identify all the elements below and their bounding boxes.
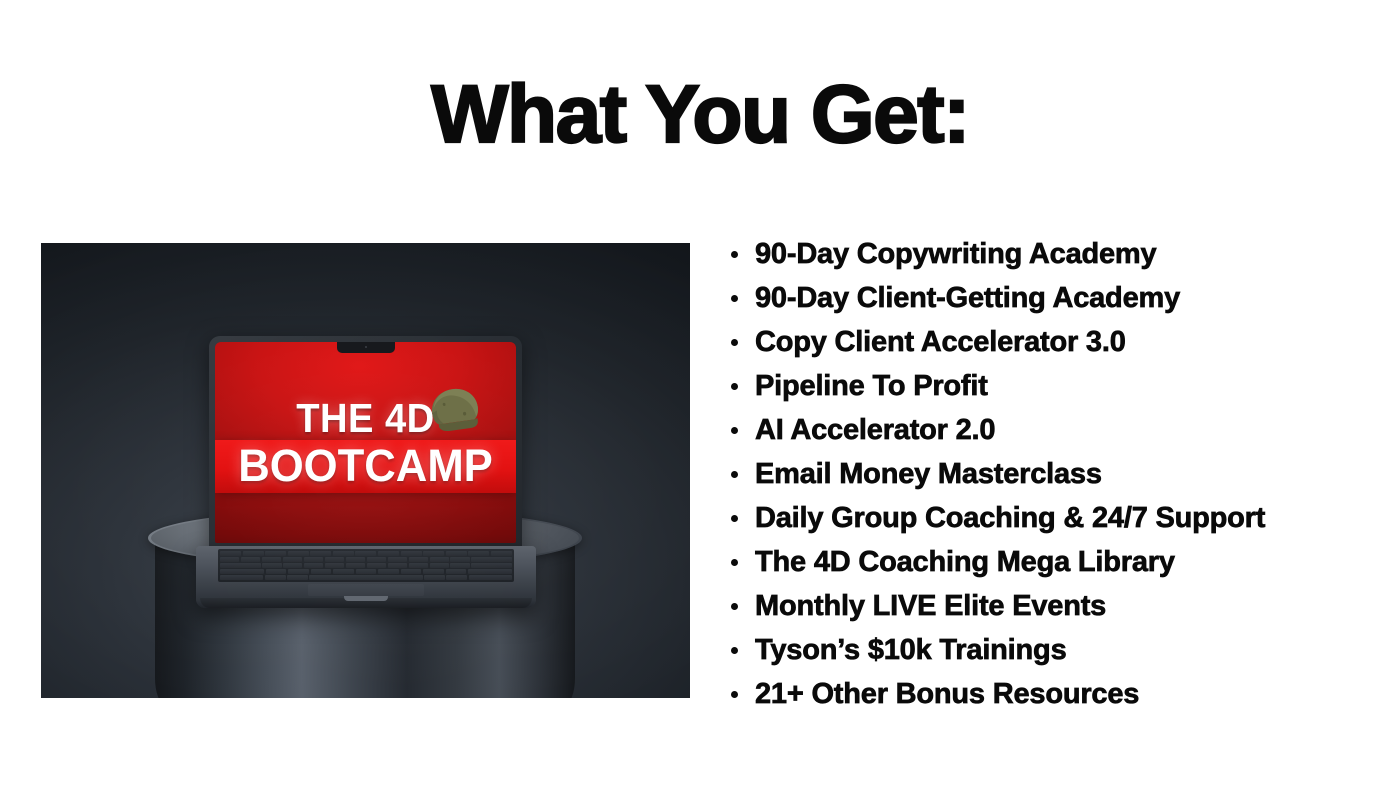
key <box>367 557 386 562</box>
key <box>356 569 377 574</box>
key <box>446 569 467 574</box>
list-item: Daily Group Coaching & 24/7 Support <box>722 496 1392 540</box>
key <box>367 563 386 568</box>
key <box>283 563 302 568</box>
keyboard-row <box>220 551 512 556</box>
key <box>388 563 407 568</box>
key <box>468 551 489 556</box>
list-item: The 4D Coaching Mega Library <box>722 540 1392 584</box>
laptop-base-notch <box>344 596 388 601</box>
key <box>262 557 281 562</box>
list-item: Copy Client Accelerator 3.0 <box>722 320 1392 364</box>
key <box>287 575 308 580</box>
key <box>430 557 449 562</box>
key <box>311 569 332 574</box>
laptop-mockup-image: THE 4D BOOTCAMP <box>41 243 690 698</box>
key <box>304 557 323 562</box>
key <box>424 575 445 580</box>
key <box>220 569 264 574</box>
key <box>220 557 239 562</box>
laptop-lid: THE 4D BOOTCAMP <box>209 336 522 550</box>
list-item: 90-Day Client-Getting Academy <box>722 276 1392 320</box>
key <box>220 563 261 568</box>
key <box>265 551 286 556</box>
key <box>333 551 354 556</box>
key <box>423 551 444 556</box>
key <box>388 557 407 562</box>
keyboard-row <box>220 557 512 562</box>
camera-dot-icon <box>365 346 367 348</box>
page-title: What You Get: <box>0 74 1400 156</box>
key <box>355 551 376 556</box>
key <box>346 563 365 568</box>
key <box>325 563 344 568</box>
key <box>378 551 399 556</box>
space-key <box>309 575 422 580</box>
key <box>446 551 467 556</box>
key <box>471 563 512 568</box>
key <box>220 575 263 580</box>
key <box>430 563 449 568</box>
list-item: Monthly LIVE Elite Events <box>722 584 1392 628</box>
key <box>401 569 422 574</box>
key <box>325 557 344 562</box>
key <box>304 563 323 568</box>
keyboard-row <box>220 575 512 580</box>
key <box>288 569 309 574</box>
laptop-trackpad <box>308 584 424 596</box>
key <box>333 569 354 574</box>
key <box>262 563 281 568</box>
key <box>468 569 512 574</box>
key <box>346 557 365 562</box>
key <box>378 569 399 574</box>
key <box>288 551 309 556</box>
laptop-device: THE 4D BOOTCAMP <box>196 336 536 631</box>
bootcamp-title-line-2: BOOTCAMP <box>220 443 512 488</box>
key <box>310 551 331 556</box>
list-item: AI Accelerator 2.0 <box>722 408 1392 452</box>
bootcamp-highlight-band: BOOTCAMP <box>215 440 516 493</box>
key <box>423 569 444 574</box>
laptop-keyboard <box>218 549 514 582</box>
key <box>469 575 512 580</box>
list-item: Pipeline To Profit <box>722 364 1392 408</box>
key <box>283 557 302 562</box>
army-helmet-icon <box>428 386 482 434</box>
keyboard-row <box>220 563 512 568</box>
key <box>450 563 469 568</box>
slide-canvas: What You Get: THE 4D BOOTCAMP <box>0 0 1400 790</box>
benefits-list: 90-Day Copywriting Academy 90-Day Client… <box>722 232 1392 716</box>
key <box>491 551 512 556</box>
list-item: 21+ Other Bonus Resources <box>722 672 1392 716</box>
key <box>243 551 264 556</box>
list-item: 90-Day Copywriting Academy <box>722 232 1392 276</box>
key <box>241 557 260 562</box>
key <box>446 575 467 580</box>
key <box>409 557 428 562</box>
key <box>471 557 512 562</box>
key <box>409 563 428 568</box>
laptop-screen: THE 4D BOOTCAMP <box>215 342 516 543</box>
camera-notch <box>337 342 395 353</box>
key <box>265 575 286 580</box>
keyboard-row <box>220 569 512 574</box>
laptop-base <box>196 546 536 608</box>
key <box>220 551 241 556</box>
key <box>450 557 469 562</box>
key <box>266 569 287 574</box>
key <box>401 551 422 556</box>
list-item: Email Money Masterclass <box>722 452 1392 496</box>
list-item: Tyson’s $10k Trainings <box>722 628 1392 672</box>
